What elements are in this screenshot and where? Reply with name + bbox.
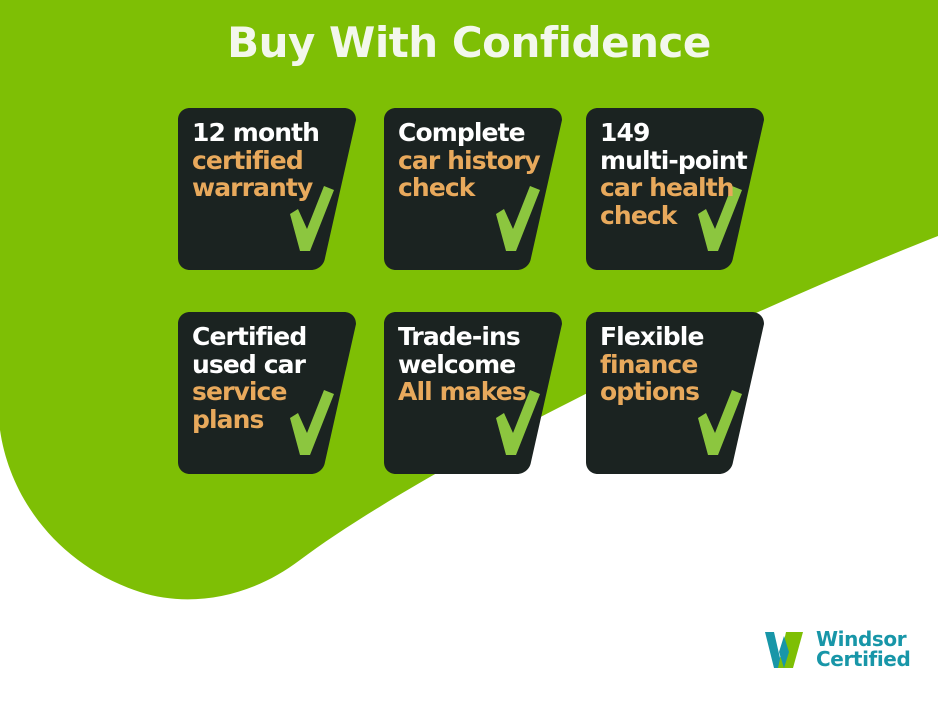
logo-line-1: Windsor — [816, 629, 910, 649]
card-line: All makes — [398, 378, 550, 406]
card-line: Flexible — [600, 323, 752, 351]
card-text: 12 month certified warranty — [192, 119, 344, 202]
card-line: used car — [192, 351, 344, 379]
card-line: check — [398, 174, 550, 202]
card-line: multi-point — [600, 147, 752, 175]
card-line: plans — [192, 406, 344, 434]
card-line: certified — [192, 147, 344, 175]
benefit-card-finance-options[interactable]: Flexible finance options — [586, 312, 764, 474]
benefit-card-certified-warranty[interactable]: 12 month certified warranty — [178, 108, 356, 270]
benefit-card-multi-point-health-check[interactable]: 149 multi-point car health check — [586, 108, 764, 270]
card-line: finance — [600, 351, 752, 379]
card-line: welcome — [398, 351, 550, 379]
card-line: Complete — [398, 119, 550, 147]
card-line: Certified — [192, 323, 344, 351]
benefit-card-service-plans[interactable]: Certified used car service plans — [178, 312, 356, 474]
card-text: Complete car history check — [398, 119, 550, 202]
logo-line-2: Certified — [816, 649, 910, 669]
card-text: 149 multi-point car health check — [600, 119, 752, 229]
windsor-certified-logo[interactable]: Windsor Certified — [762, 626, 910, 672]
benefits-grid: 12 month certified warranty Complete car… — [178, 108, 758, 478]
card-text: Certified used car service plans — [192, 323, 344, 433]
logo-wordmark: Windsor Certified — [816, 629, 910, 670]
card-line: 12 month — [192, 119, 344, 147]
card-line: service — [192, 378, 344, 406]
card-line: warranty — [192, 174, 344, 202]
card-line: check — [600, 202, 752, 230]
card-text: Trade-ins welcome All makes — [398, 323, 550, 406]
card-line: car history — [398, 147, 550, 175]
page-title: Buy With Confidence — [0, 18, 938, 67]
benefit-card-trade-ins[interactable]: Trade-ins welcome All makes — [384, 312, 562, 474]
card-line: Trade-ins — [398, 323, 550, 351]
card-line: car health — [600, 174, 752, 202]
poster-canvas: Buy With Confidence 12 month certified w… — [0, 0, 938, 704]
card-line: options — [600, 378, 752, 406]
card-text: Flexible finance options — [600, 323, 752, 406]
card-line: 149 — [600, 119, 752, 147]
benefit-card-car-history-check[interactable]: Complete car history check — [384, 108, 562, 270]
windsor-w-icon — [762, 626, 808, 672]
